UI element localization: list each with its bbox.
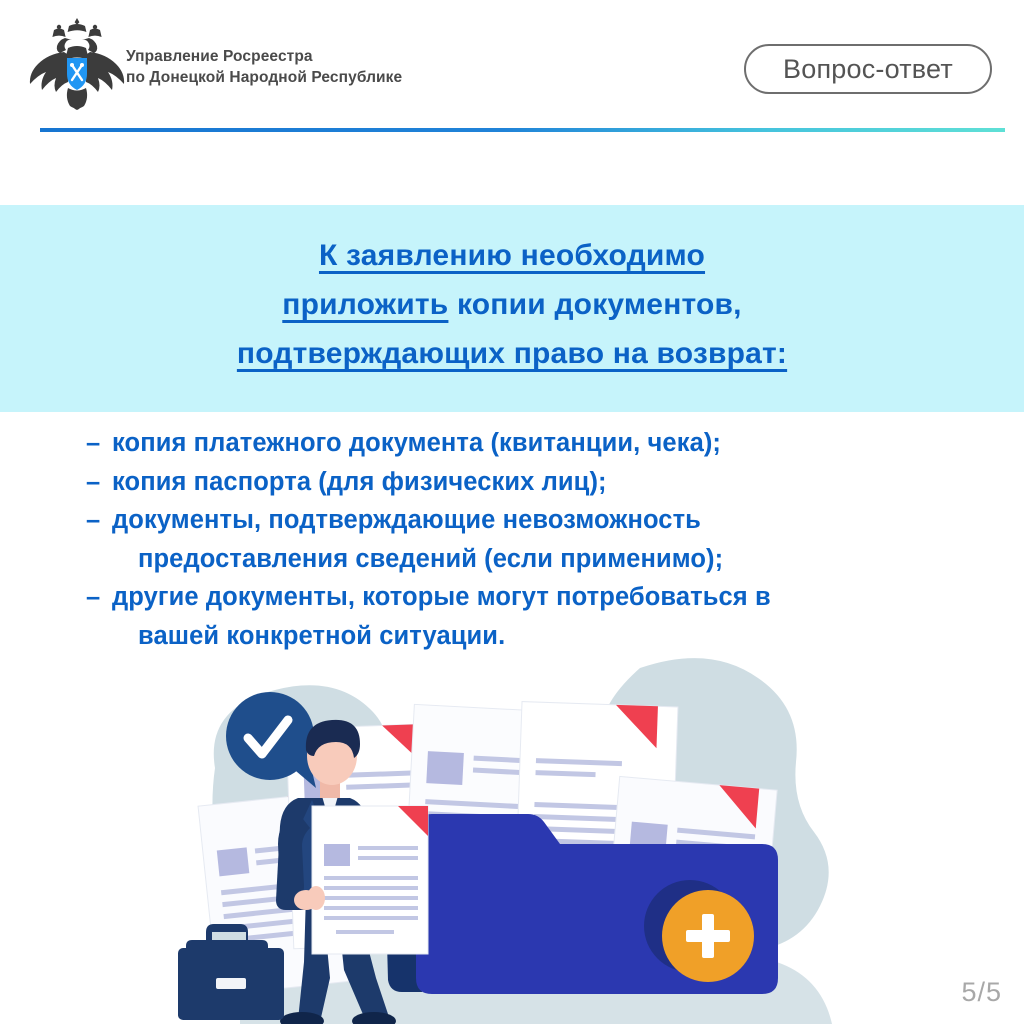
heading-line-2-rest: копии документов, (448, 288, 741, 321)
heading-band: К заявлению необходимо приложить копии д… (0, 205, 1024, 412)
list-item: – документы, подтверждающие невозможност… (86, 501, 946, 578)
bullet-dash-icon: – (86, 424, 100, 463)
heading-line-3: подтверждающих право на возврат: (0, 329, 1024, 378)
heading-line-2: приложить копии документов, (0, 280, 1024, 329)
slide-page: Управление Росреестра по Донецкой Народн… (0, 0, 1024, 1024)
question-answer-badge-label: Вопрос-ответ (746, 46, 990, 92)
list-item-text: документы, подтверждающие невозможность (112, 506, 701, 534)
heading-line-2-underlined: приложить (282, 288, 448, 321)
page-title: К заявлению необходимо приложить копии д… (0, 231, 1024, 378)
question-answer-badge[interactable]: Вопрос-ответ (744, 44, 992, 94)
bullet-dash-icon: – (86, 463, 100, 502)
list-item: – копия паспорта (для физических лиц); (86, 463, 946, 502)
rosreestr-eagle-icon (24, 14, 130, 114)
list-item-continuation: предоставления сведений (если применимо)… (112, 540, 946, 579)
bullet-dash-icon: – (86, 578, 100, 617)
heading-line-1-text: К заявлению необходимо (319, 239, 705, 272)
org-name-line-1: Управление Росреестра (126, 46, 546, 67)
list-item: – другие документы, которые могут потреб… (86, 578, 946, 655)
header-gradient-divider (40, 128, 1005, 132)
document-requirements-list: – копия платежного документа (квитанции,… (86, 424, 946, 655)
list-item-text: копия паспорта (для физических лиц); (112, 468, 607, 496)
documents-illustration (120, 648, 920, 1024)
bullet-dash-icon: – (86, 501, 100, 540)
list-item: – копия платежного документа (квитанции,… (86, 424, 946, 463)
heading-line-1: К заявлению необходимо (0, 231, 1024, 280)
page-counter: 5/5 (961, 977, 1002, 1008)
list-item-text: другие документы, которые могут потребов… (112, 583, 771, 611)
list-item-text: копия платежного документа (квитанции, ч… (112, 429, 721, 457)
held-document (312, 806, 428, 954)
page-header: Управление Росреестра по Донецкой Народн… (0, 0, 1024, 150)
org-name-line-2: по Донецкой Народной Республике (126, 67, 546, 88)
organization-name: Управление Росреестра по Донецкой Народн… (126, 46, 546, 88)
heading-line-3-text: подтверждающих право на возврат: (237, 337, 787, 370)
